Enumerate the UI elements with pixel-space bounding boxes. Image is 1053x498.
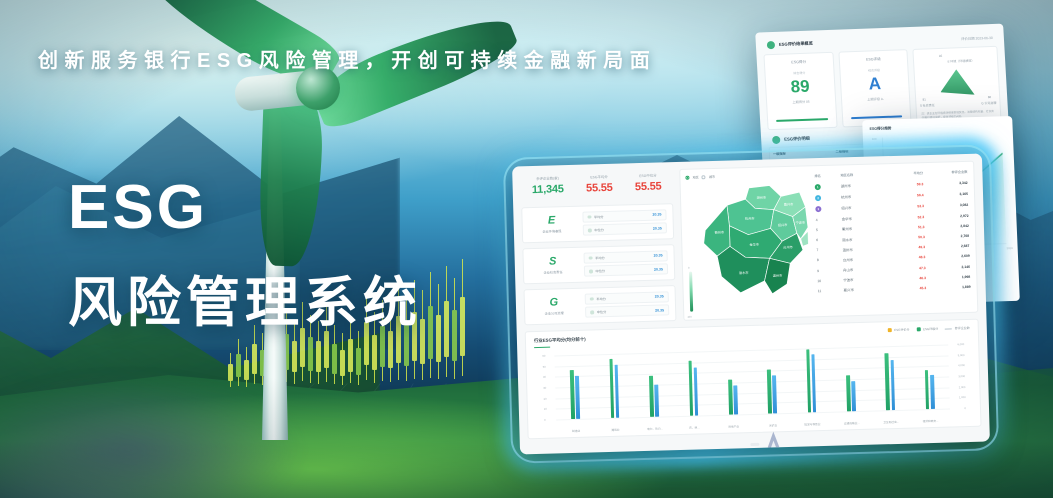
bar-esg-score	[614, 364, 619, 417]
legend-line-icon	[945, 328, 952, 329]
svg-text:丽水市: 丽水市	[739, 270, 749, 275]
esg-metrics-column: 平均分20.35中位分20.35	[585, 291, 670, 318]
ranking-rank-cell: 9	[817, 268, 843, 273]
ranking-count-cell: 3,165	[924, 192, 968, 197]
ranking-rank-cell: 4	[816, 217, 842, 222]
x-axis-label: 交通运输业...	[839, 421, 865, 426]
metric-dot-icon	[587, 215, 591, 219]
esg-metric-label: 中位分	[597, 309, 607, 314]
radio-region-icon[interactable]	[685, 175, 689, 179]
bar-group[interactable]	[806, 348, 816, 412]
y-tick-right: 0	[964, 407, 966, 410]
rank-badge: 3	[815, 206, 821, 212]
bar-esg-rating	[688, 360, 693, 416]
ranking-count-cell: 2,768	[925, 234, 969, 239]
y-tick-right: 2,000	[959, 386, 966, 389]
ranking-header-rank: 排名	[814, 172, 840, 178]
esg-metric-line: 中位分20.35	[583, 223, 667, 236]
ranking-rank-cell: 10	[817, 278, 843, 283]
rank-number: 4	[816, 218, 818, 222]
ranking-header-score: 平均分	[886, 170, 923, 176]
esg-metric-line: 中位分20.35	[585, 305, 669, 318]
radar-label-right-name: G 公司治理	[981, 101, 996, 106]
map-legend-max: 0	[688, 267, 690, 270]
ranking-count-cell: 2,146	[926, 264, 970, 269]
ranking-city-cell: 湖州市	[841, 182, 887, 188]
esg-dashboard-screen[interactable]: 参评企业数(家) 11,345 ESG平均分 55.55 ESG中位分 55.5…	[512, 153, 990, 454]
bar-group[interactable]	[609, 354, 619, 418]
rank-number: 9	[817, 269, 819, 273]
kpi-score-sublabel: 综合得分	[769, 70, 829, 76]
stat-esg-average-label: ESG平均分	[586, 174, 613, 180]
esg-letter: E	[528, 215, 574, 227]
kpi-rating-prev: 上期评级 A-	[846, 95, 906, 102]
ranking-city-cell: 杭州市	[841, 193, 887, 199]
ranking-score-cell: 47.3	[889, 266, 926, 271]
y-tick-left: 50	[543, 365, 546, 368]
bar-esg-rating	[609, 359, 614, 418]
esg-radar-chart[interactable]: 92 E 环境（环境绩效） 81 S 社会责任 86 G 公司治理 注：该企业在…	[913, 46, 1002, 125]
ranking-score-cell: 52.3	[887, 215, 924, 220]
stat-esg-median-label: ESG中位分	[635, 172, 662, 178]
ranking-score-cell: 46.3	[889, 276, 926, 281]
esg-metric-line: 平均分20.35	[585, 291, 669, 304]
bar-esg-score	[851, 381, 855, 411]
ranking-city-cell: 丽水市	[842, 236, 888, 242]
bar-group[interactable]	[885, 346, 895, 410]
esg-metric-value: 20.35	[654, 267, 663, 271]
trend-x-tick: 2023	[1007, 247, 1013, 250]
stat-company-count: 参评企业数(家) 11,345	[532, 175, 564, 196]
ranking-city-cell: 台州市	[843, 256, 889, 262]
esg-dimension-card[interactable]: G企业公司治理平均分20.35中位分20.35	[524, 285, 677, 325]
ranking-city-cell: 嘉兴市	[844, 287, 890, 293]
esg-metric-line: 平均分20.35	[582, 209, 666, 222]
trend-panel-title: ESG得分趋势	[869, 126, 891, 132]
esg-letter-block: S企业社会责任	[530, 256, 576, 276]
ranking-rank-cell: 8	[817, 258, 843, 263]
ranking-city-cell: 金华市	[842, 215, 888, 221]
y-tick-right: 3,000	[958, 375, 965, 378]
stat-company-count-label: 参评企业数(家)	[532, 175, 564, 181]
esg-metric-label: 中位分	[595, 268, 605, 273]
stat-esg-average: ESG平均分 55.55	[586, 174, 613, 195]
bar-esg-rating	[767, 370, 772, 414]
svg-text:衢州市: 衢州市	[715, 229, 725, 234]
hero-title-cn: 风险管理系统	[68, 258, 422, 337]
esg-metric-value: 20.35	[653, 226, 662, 230]
x-axis-label: 租赁和商务...	[917, 419, 943, 424]
svg-text:湖州市: 湖州市	[756, 195, 766, 200]
radio-city-icon[interactable]	[702, 175, 706, 179]
ranking-score-cell: 49.3	[888, 245, 925, 250]
x-axis-label: 卫生和社会...	[878, 420, 904, 425]
y-tick-left: 30	[543, 387, 546, 390]
bar-group[interactable]	[924, 345, 934, 409]
bar-esg-score	[930, 375, 935, 409]
region-analysis-card[interactable]: 地区 城市	[679, 161, 978, 321]
rank-number: 10	[817, 279, 821, 283]
ranking-score-cell: 51.3	[888, 225, 925, 230]
ranking-score-cell: 53.3	[887, 204, 924, 209]
radar-label-top-value: 92	[939, 54, 943, 58]
ranking-rank-cell: 11	[818, 288, 844, 293]
esg-metric-value: 20.35	[655, 295, 664, 299]
rank-number: 6	[816, 238, 818, 242]
bar-esg-score	[811, 355, 816, 413]
title-underline	[534, 346, 550, 348]
legend-label: 参评企业数	[955, 326, 970, 330]
ranking-count-cell: 3,342	[923, 180, 967, 185]
hero-title-en: ESG	[68, 172, 208, 243]
industry-chart-title: 行业ESG平均分(均分前十)	[534, 337, 586, 344]
svg-text:温州市: 温州市	[773, 273, 783, 278]
legend-square-icon	[888, 328, 892, 332]
ranking-rank-cell: 5	[816, 227, 842, 232]
kpi-rating-sublabel: 综合评级	[844, 67, 904, 73]
y-tick-right: 1,000	[959, 396, 966, 399]
bar-esg-score	[575, 376, 580, 419]
industry-esg-chart-card[interactable]: 行业ESG平均分(均分前十) ESG评价分ESG评级分参评企业数 6050403…	[525, 319, 982, 440]
esg-metric-value: 20.35	[655, 308, 664, 312]
x-axis-label: 房地产业	[721, 424, 747, 429]
svg-text:宁波市: 宁波市	[795, 220, 805, 225]
rank-number: 8	[817, 258, 819, 262]
bar-esg-score	[772, 375, 777, 413]
ranking-rank-cell: 3	[815, 205, 841, 212]
x-axis-label: 电力、热力...	[642, 426, 668, 431]
bar-esg-rating	[806, 349, 811, 412]
ranking-count-cell: 2,609	[925, 254, 969, 259]
bar-esg-rating	[846, 375, 851, 411]
esg-metric-line: 平均分20.35	[583, 250, 667, 263]
toggle-option-city[interactable]: 城市	[709, 174, 716, 179]
bar-esg-score	[654, 385, 658, 417]
esg-dimension-name: 企业环境表现	[529, 228, 575, 234]
ranking-count-cell: 2,687	[925, 244, 969, 249]
stat-company-count-value: 11,345	[532, 183, 564, 196]
esg-letter: S	[530, 256, 576, 268]
legend-label: ESG评级分	[923, 327, 938, 331]
map-color-legend	[689, 272, 693, 312]
radar-label-left-name: S 社会责任	[920, 103, 935, 108]
esg-metric-value: 20.35	[652, 213, 661, 217]
kpi-card-esg-score[interactable]: ESG得分 综合得分 89 上期得分 85	[763, 52, 837, 130]
metric-dot-icon	[589, 256, 593, 260]
esg-metric-value: 20.35	[654, 254, 663, 258]
bar-group[interactable]	[570, 355, 580, 419]
overview-panel-title: ESG评价结果概览	[779, 41, 813, 48]
ranking-city-cell: 舟山市	[843, 266, 889, 272]
x-axis-label: 采矿业	[760, 423, 786, 428]
bar-group[interactable]	[845, 347, 855, 411]
ranking-city-cell: 宁波市	[843, 276, 889, 282]
overview-evaluation-date: 评价日期 2023-06-30	[961, 34, 993, 40]
industry-chart-header: 行业ESG平均分(均分前十) ESG评价分ESG评级分参评企业数	[534, 326, 970, 348]
svg-text:金华市: 金华市	[749, 242, 759, 247]
esg-metrics-column: 平均分20.35中位分20.35	[583, 250, 668, 277]
chart-legend-item[interactable]: 参评企业数	[945, 326, 970, 331]
bar-esg-score	[890, 360, 895, 410]
tablet-device-mockup: 参评企业数(家) 11,345 ESG平均分 55.55 ESG中位分 55.5…	[512, 153, 990, 454]
dashboard-stats-column: 参评企业数(家) 11,345 ESG平均分 55.55 ESG中位分 55.5…	[520, 169, 676, 325]
esg-metric-label: 中位分	[594, 227, 604, 232]
esg-letter-block: E企业环境表现	[528, 215, 574, 235]
stat-esg-median-value: 55.55	[635, 180, 662, 193]
hero-tagline: 创新服务银行ESG风险管理，开创可持续金融新局面	[38, 44, 718, 73]
y-tick-left: 20	[544, 397, 547, 400]
bar-esg-rating	[925, 370, 930, 410]
kpi-score-label: ESG得分	[769, 59, 829, 66]
x-axis-label: 制造业	[563, 429, 589, 434]
rank-number: 7	[816, 248, 818, 252]
esg-letter: G	[531, 297, 577, 309]
ranking-header-city: 地区名称	[840, 171, 886, 177]
ranking-count-cell: 2,972	[924, 214, 968, 219]
esg-letter-block: G企业公司治理	[531, 297, 577, 317]
radar-label-top-name: E 环境（环境绩效）	[947, 59, 974, 64]
ranking-rank-cell: 7	[816, 248, 842, 253]
kpi-card-esg-rating[interactable]: ESG评级 综合评级 A 上期评级 A-	[838, 49, 912, 127]
industry-bar-groups	[554, 345, 950, 420]
radar-triangle-shape	[939, 69, 974, 96]
summary-stats-row: 参评企业数(家) 11,345 ESG平均分 55.55 ESG中位分 55.5…	[520, 169, 673, 202]
svg-text:绍兴市: 绍兴市	[778, 222, 788, 227]
trend-panel-header: ESG得分趋势	[869, 123, 1005, 132]
legend-label: ESG评价分	[894, 328, 909, 332]
region-ranking-table[interactable]: 排名 地区名称 平均分 参评企业数 1湖州市59.33,3422杭州市56.43…	[812, 162, 977, 316]
y-tick-left: 40	[543, 376, 546, 379]
bar-group[interactable]	[648, 353, 658, 417]
esg-metric-label: 平均分	[595, 255, 605, 260]
esg-hero-banner: 创新服务银行ESG风险管理，开创可持续金融新局面 ESG 风险管理系统 ESG评…	[0, 0, 1053, 498]
toggle-option-region[interactable]: 地区	[692, 174, 699, 179]
map-scope-toggle[interactable]: 地区 城市	[685, 174, 715, 180]
bar-group[interactable]	[727, 350, 737, 414]
rank-badge: 2	[815, 195, 821, 201]
metric-dot-icon	[590, 297, 594, 301]
rank-number: 11	[818, 289, 822, 293]
ranking-city-cell: 衢州市	[842, 225, 888, 231]
esg-metric-label: 平均分	[594, 214, 604, 219]
ranking-rank-cell: 6	[816, 237, 842, 242]
y-tick-left: 60	[542, 355, 545, 358]
bar-esg-rating	[728, 379, 733, 414]
bar-esg-rating	[649, 376, 654, 417]
radar-label-left-value: 81	[922, 97, 926, 101]
ranking-score-cell: 45.3	[889, 286, 926, 291]
y-tick-left: 10	[544, 408, 547, 411]
bar-esg-score	[733, 386, 737, 415]
bar-esg-score	[693, 368, 698, 416]
x-axis-label: 批发与零售业	[799, 422, 825, 427]
ranking-score-cell: 50.3	[888, 235, 925, 240]
y-tick-right: 4,000	[958, 364, 965, 367]
ranking-rank-cell: 1	[815, 183, 841, 190]
ranking-rank-cell: 2	[815, 194, 841, 201]
ranking-count-cell: 3,082	[924, 203, 968, 208]
ranking-count-cell: 2,842	[924, 224, 968, 229]
ranking-score-cell: 56.4	[887, 193, 924, 198]
stat-esg-average-value: 55.55	[586, 182, 613, 195]
kpi-score-prev: 上期得分 85	[771, 98, 831, 105]
ranking-header-count: 参评企业数	[923, 169, 967, 175]
map-legend-min: 100	[687, 316, 691, 319]
bar-esg-rating	[570, 370, 575, 419]
chart-legend-item[interactable]: ESG评级分	[916, 327, 938, 332]
zhejiang-map-container[interactable]: 地区 城市	[680, 166, 816, 320]
bar-group[interactable]	[767, 349, 777, 413]
ranking-city-cell: 温州市	[842, 246, 888, 252]
bar-group[interactable]	[688, 352, 698, 416]
svg-text:嘉兴市: 嘉兴市	[784, 201, 794, 206]
x-axis-label: 农、林...	[681, 425, 707, 430]
ranking-city-cell: 绍兴市	[841, 205, 887, 211]
chart-legend-item[interactable]: ESG评价分	[888, 328, 910, 333]
industry-chart-plot: 6050403020100 6,0005,0004,0003,0002,0001…	[554, 345, 950, 420]
esg-metric-line: 中位分20.35	[584, 264, 668, 277]
tablet-home-indicator	[750, 442, 759, 446]
metric-dot-icon	[590, 310, 594, 314]
ranking-score-cell: 59.3	[887, 182, 924, 187]
esg-dimension-cards: E企业环境表现平均分20.35中位分20.35S企业社会责任平均分20.35中位…	[521, 203, 676, 325]
esg-dimension-name: 企业公司治理	[531, 310, 577, 316]
esg-dimension-card[interactable]: S企业社会责任平均分20.35中位分20.35	[522, 244, 675, 284]
kpi-score-value: 89	[770, 77, 831, 96]
y-tick-right: 5,000	[958, 354, 965, 357]
esg-dimension-card[interactable]: E企业环境表现平均分20.35中位分20.35	[521, 203, 674, 243]
ranking-count-cell: 1,889	[926, 285, 970, 290]
rank-number: 5	[816, 228, 818, 232]
x-axis-label: 建筑业	[602, 427, 628, 432]
section-marker-icon	[767, 41, 775, 49]
y-tick-right: 6,000	[957, 343, 964, 346]
ranking-count-cell: 1,998	[926, 275, 970, 280]
esg-metric-label: 平均分	[596, 296, 606, 301]
zhejiang-province-map[interactable]: 湖州市 嘉兴市 杭州市 绍兴市 宁波市 金华市 衢州市 台州市 丽水市 温州市	[695, 182, 810, 303]
ranking-score-cell: 48.3	[889, 256, 926, 261]
metric-dot-icon	[588, 228, 592, 232]
svg-text:杭州市: 杭州市	[745, 216, 755, 221]
kpi-rating-label: ESG评级	[843, 56, 903, 63]
radar-label-right-value: 86	[988, 95, 992, 99]
industry-chart-legend[interactable]: ESG评价分ESG评级分参评企业数	[888, 326, 970, 332]
esg-metrics-column: 平均分20.35中位分20.35	[582, 209, 667, 236]
rank-badge: 1	[815, 184, 821, 190]
legend-square-icon	[916, 327, 920, 331]
metric-dot-icon	[589, 269, 593, 273]
esg-dimension-name: 企业社会责任	[530, 269, 576, 275]
y-tick-left: 0	[544, 419, 546, 422]
bar-esg-rating	[885, 354, 890, 411]
kpi-score-underline	[776, 118, 828, 121]
svg-text:台州市: 台州市	[783, 244, 793, 249]
ranking-rows-container: 1湖州市59.33,3422杭州市56.43,1653绍兴市53.33,0824…	[815, 177, 971, 296]
kpi-rating-value: A	[844, 74, 905, 93]
stat-esg-median: ESG中位分 55.55	[635, 172, 662, 193]
dashboard-upper-grid: 参评企业数(家) 11,345 ESG平均分 55.55 ESG中位分 55.5…	[520, 161, 978, 326]
